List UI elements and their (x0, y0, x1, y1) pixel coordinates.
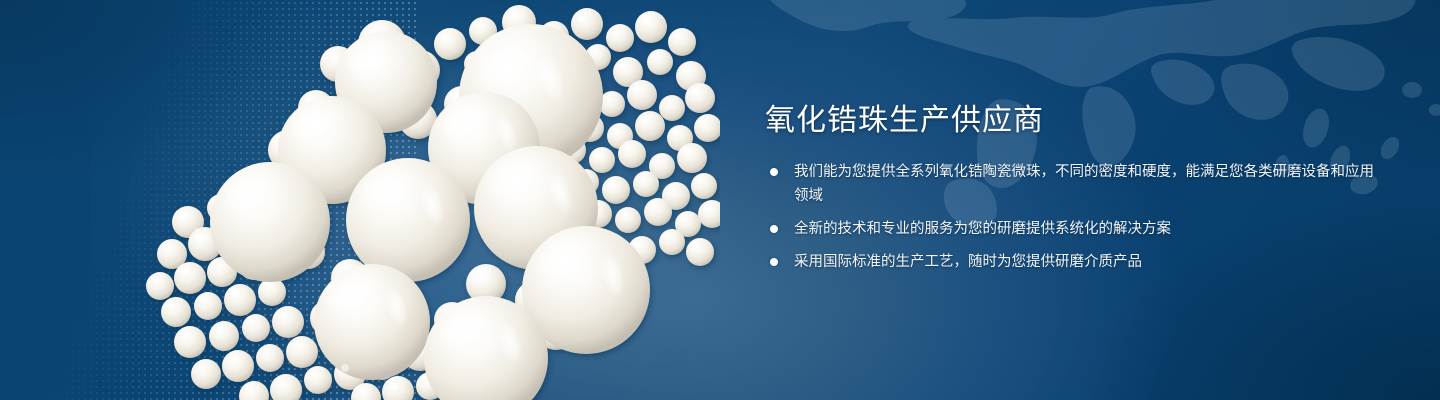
banner-headline: 氧化锆珠生产供应商 (765, 104, 1385, 138)
bullet-circle-icon (770, 225, 778, 233)
feature-item: 采用国际标准的生产工艺，随时为您提供研磨介质产品 (765, 250, 1385, 274)
feature-item: 全新的技术和专业的服务为您的研磨提供系统化的解决方案 (765, 217, 1385, 241)
feature-text: 我们能为您提供全系列氧化锆陶瓷微珠，不同的密度和硬度，能满足您各类研磨设备和应用… (794, 164, 1374, 204)
banner-text-panel: 氧化锆珠生产供应商 我们能为您提供全系列氧化锆陶瓷微珠，不同的密度和硬度，能满足… (765, 104, 1385, 274)
feature-text: 采用国际标准的生产工艺，随时为您提供研磨介质产品 (794, 254, 1142, 270)
feature-text: 全新的技术和专业的服务为您的研磨提供系统化的解决方案 (794, 221, 1171, 237)
banner-feature-list: 我们能为您提供全系列氧化锆陶瓷微珠，不同的密度和硬度，能满足您各类研磨设备和应用… (765, 160, 1385, 274)
feature-item: 我们能为您提供全系列氧化锆陶瓷微珠，不同的密度和硬度，能满足您各类研磨设备和应用… (765, 160, 1385, 208)
hero-banner: 氧化锆珠生产供应商 我们能为您提供全系列氧化锆陶瓷微珠，不同的密度和硬度，能满足… (0, 0, 1440, 400)
bullet-circle-icon (770, 258, 778, 266)
bullet-circle-icon (770, 168, 778, 176)
